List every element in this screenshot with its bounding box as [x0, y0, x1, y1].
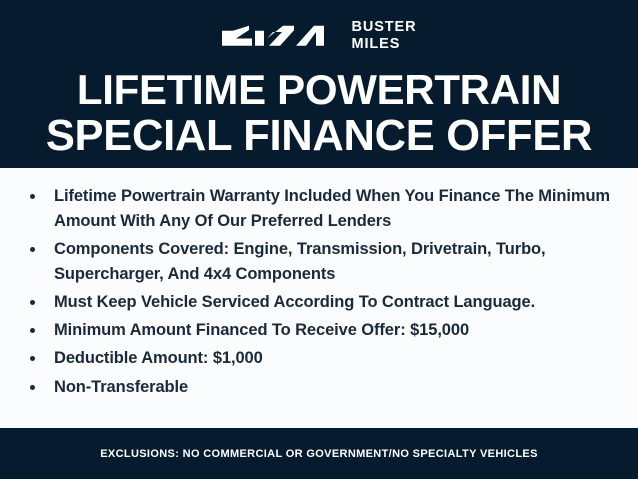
bullet-dot-icon: [30, 385, 35, 390]
bullet-dot-icon: [30, 356, 35, 361]
dealer-name-line-1: BUSTER: [351, 19, 416, 36]
page-title-line-2: SPECIAL FINANCE OFFER: [12, 113, 626, 159]
bullet-dot-icon: [30, 194, 35, 199]
kia-logo-icon: [221, 21, 329, 51]
flyer-header: BUSTER MILES LIFETIME POWERTRAIN SPECIAL…: [0, 0, 638, 168]
list-item: Minimum Amount Financed To Receive Offer…: [14, 318, 624, 343]
bullet-dot-icon: [30, 300, 35, 305]
flyer-footer: EXCLUSIONS: NO COMMERCIAL OR GOVERNMENT/…: [0, 428, 638, 479]
list-item: Must Keep Vehicle Serviced According To …: [14, 290, 624, 315]
promo-flyer: BUSTER MILES LIFETIME POWERTRAIN SPECIAL…: [0, 0, 638, 479]
list-item-text: Lifetime Powertrain Warranty Included Wh…: [54, 187, 610, 230]
bullet-dot-icon: [30, 328, 35, 333]
list-item-text: Must Keep Vehicle Serviced According To …: [54, 293, 535, 311]
list-item: Non-Transferable: [14, 375, 624, 400]
list-item: Lifetime Powertrain Warranty Included Wh…: [14, 184, 624, 234]
flyer-body: Lifetime Powertrain Warranty Included Wh…: [0, 168, 638, 428]
dealer-name: BUSTER MILES: [351, 19, 416, 53]
list-item: Deductible Amount: $1,000: [14, 346, 624, 371]
bullet-dot-icon: [30, 247, 35, 252]
page-title-line-1: LIFETIME POWERTRAIN: [12, 68, 626, 113]
list-item: Components Covered: Engine, Transmission…: [14, 237, 624, 287]
list-item-text: Minimum Amount Financed To Receive Offer…: [54, 321, 469, 339]
list-item-text: Non-Transferable: [54, 378, 188, 396]
page-title: LIFETIME POWERTRAIN SPECIAL FINANCE OFFE…: [0, 68, 638, 159]
list-item-text: Deductible Amount: $1,000: [54, 349, 263, 367]
offer-details-list: Lifetime Powertrain Warranty Included Wh…: [14, 184, 624, 400]
brand-lockup: BUSTER MILES: [221, 14, 416, 58]
exclusions-text: EXCLUSIONS: NO COMMERCIAL OR GOVERNMENT/…: [100, 448, 538, 460]
dealer-name-line-2: MILES: [351, 36, 416, 53]
list-item-text: Components Covered: Engine, Transmission…: [54, 240, 546, 283]
